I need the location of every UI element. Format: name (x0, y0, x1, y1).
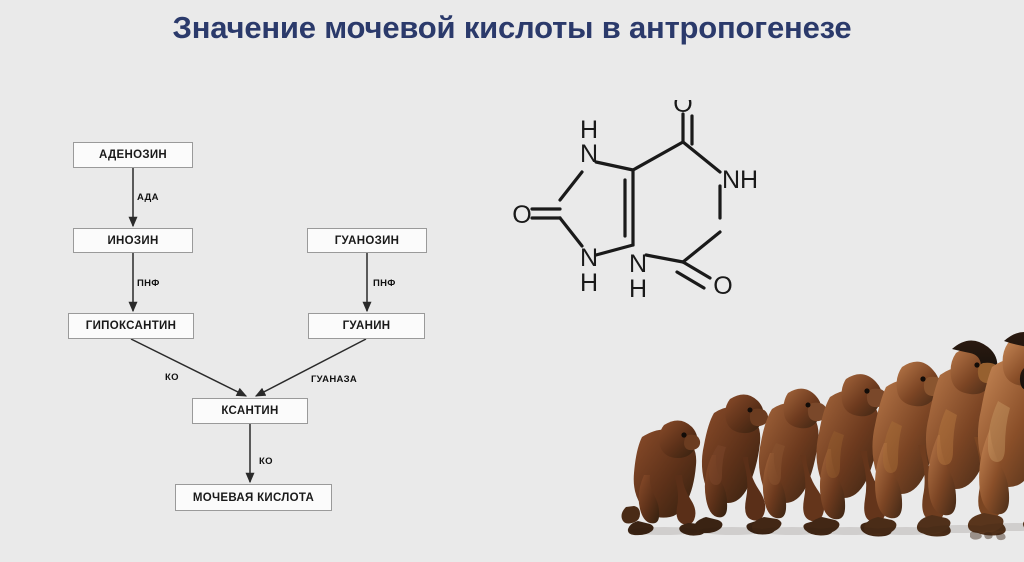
edge-label-ada: АДА (137, 192, 159, 203)
atom-label-o-left: O (512, 201, 531, 229)
atom-label-h-bottom: H (629, 275, 647, 303)
flow-node-label: КСАНТИН (221, 405, 278, 417)
flowchart-connectors (0, 0, 520, 562)
flow-node-uric-acid[interactable]: МОЧЕВАЯ КИСЛОТА (175, 484, 332, 511)
flow-node-guanine[interactable]: ГУАНИН (308, 313, 425, 339)
hominin-figure-1 (622, 420, 705, 535)
atom-label-o-right: O (713, 272, 732, 300)
atom-label-n-bottom: N (629, 250, 647, 278)
flow-node-guanosine[interactable]: ГУАНОЗИН (307, 228, 427, 253)
flow-node-hypoxanthine[interactable]: ГИПОКСАНТИН (68, 313, 194, 339)
slide-canvas: Значение мочевой кислоты в антропогенезе… (0, 0, 1024, 562)
flow-node-label: АДЕНОЗИН (99, 149, 167, 161)
flow-node-inosine[interactable]: ИНОЗИН (73, 228, 193, 253)
atom-label-n-lower-left: N (580, 244, 598, 272)
march-of-progress-illustration (604, 325, 1024, 562)
flow-node-label: ГУАНОЗИН (335, 235, 400, 247)
atom-label-n-upper-left: N (580, 140, 598, 168)
atom-label-h-lower-left: H (580, 269, 598, 297)
edge-label-pnf-1: ПНФ (137, 278, 160, 289)
uric-acid-structure: O H N NH O N H N H O (478, 100, 798, 330)
flow-node-adenosine[interactable]: АДЕНОЗИН (73, 142, 193, 168)
flow-node-label: ГУАНИН (343, 320, 391, 332)
edge-label-pnf-2: ПНФ (373, 278, 396, 289)
atom-label-o-top: O (673, 100, 692, 118)
flow-node-label: ИНОЗИН (107, 235, 158, 247)
atom-label-nh-right: NH (722, 166, 758, 194)
edge-label-guanase: ГУАНАЗА (311, 374, 357, 385)
flow-node-label: МОЧЕВАЯ КИСЛОТА (193, 492, 314, 504)
purine-catabolism-flowchart: АДЕНОЗИН ИНОЗИН ГИПОКСАНТИН ГУАНОЗИН ГУА… (0, 0, 520, 562)
edge-label-ko-1: КО (165, 372, 179, 383)
flow-node-label: ГИПОКСАНТИН (86, 320, 176, 332)
flow-node-xanthine[interactable]: КСАНТИН (192, 398, 308, 424)
edge-label-ko-2: КО (259, 456, 273, 467)
